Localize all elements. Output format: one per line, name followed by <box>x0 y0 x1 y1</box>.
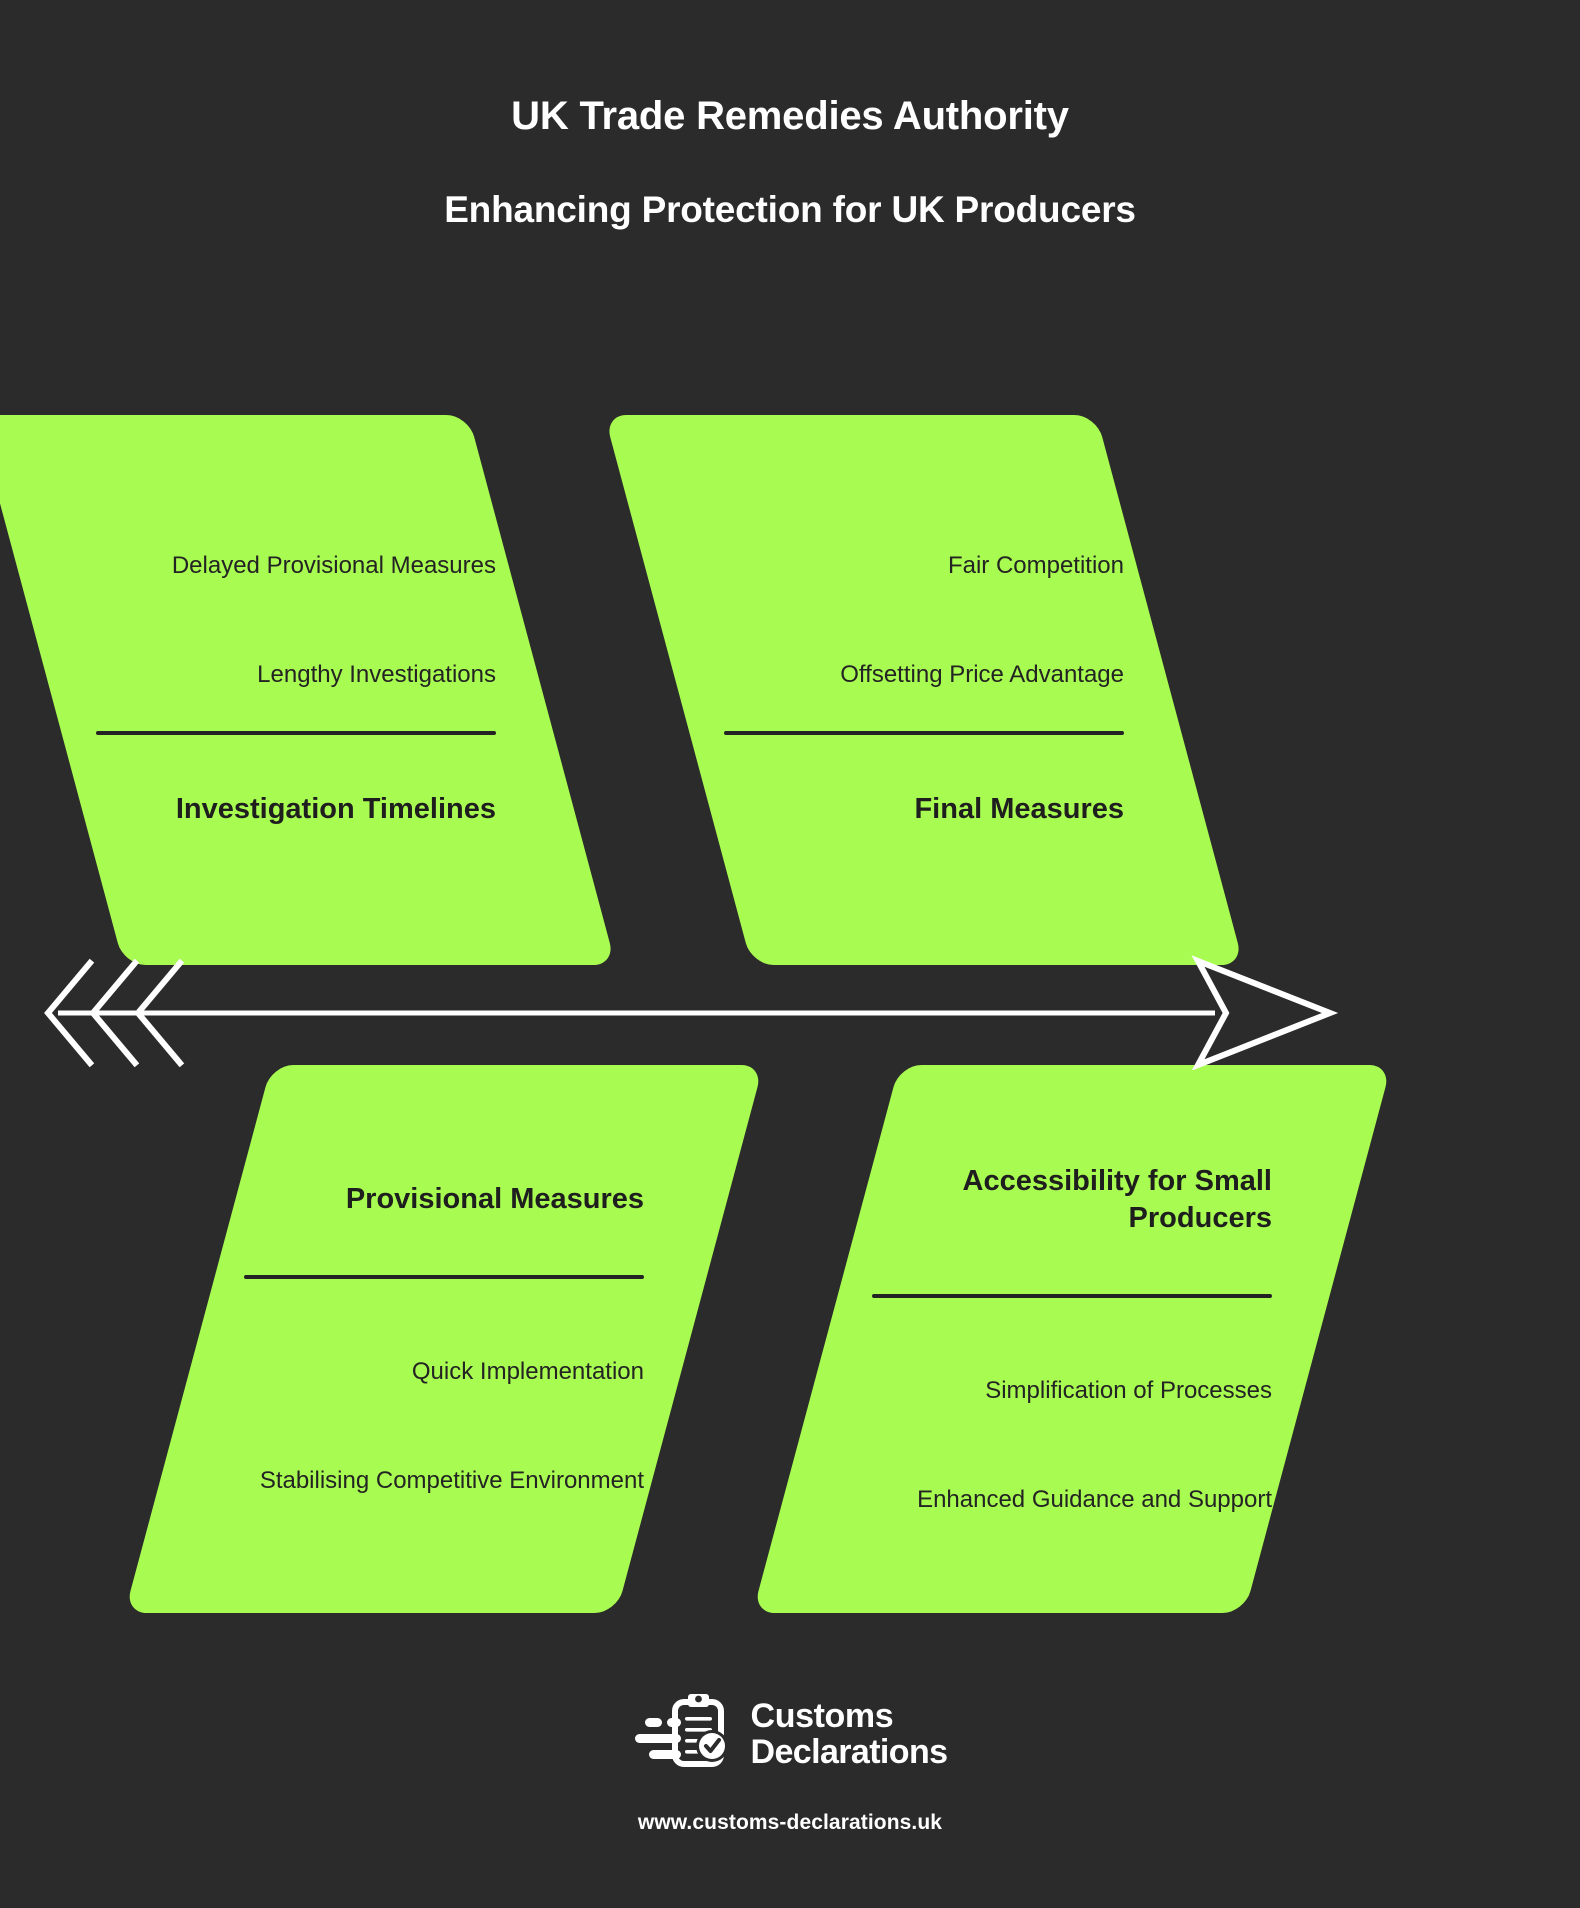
brand-name-line2: Declarations <box>751 1734 948 1770</box>
panel-heading: Provisional Measures <box>244 1181 644 1219</box>
panel-item: Stabilising Competitive Environment <box>244 1466 644 1497</box>
website-url[interactable]: www.customs-declarations.uk <box>0 1783 1580 1835</box>
panel-heading: Accessibility for Small Producers <box>872 1163 1272 1238</box>
page-title: UK Trade Remedies Authority <box>0 92 1580 140</box>
panel-heading: Investigation Timelines <box>96 791 496 829</box>
panel-investigation-timelines[interactable]: Delayed Provisional Measures Lengthy Inv… <box>0 415 616 965</box>
panel-item: Delayed Provisional Measures <box>96 551 496 582</box>
panel-heading: Final Measures <box>724 791 1124 829</box>
panel-final-measures[interactable]: Fair Competition Offsetting Price Advant… <box>604 415 1243 965</box>
page-subtitle: Enhancing Protection for UK Producers <box>0 140 1580 232</box>
panel-accessibility-for-small-producers[interactable]: Accessibility for Small Producers Simpli… <box>753 1065 1392 1613</box>
panel-item: Simplification of Processes <box>872 1376 1272 1407</box>
panel-item: Fair Competition <box>724 551 1124 582</box>
panel-item: Quick Implementation <box>244 1357 644 1388</box>
panel-item: Enhanced Guidance and Support <box>872 1485 1272 1516</box>
page-footer: Customs Declarations www.customs-declara… <box>0 1690 1580 1835</box>
brand-logo[interactable]: Customs Declarations <box>633 1690 948 1778</box>
panel-item: Offsetting Price Advantage <box>724 660 1124 691</box>
clipboard-check-icon <box>633 1690 733 1778</box>
page-header: UK Trade Remedies Authority Enhancing Pr… <box>0 0 1580 232</box>
brand-name-line1: Customs <box>751 1698 948 1734</box>
panel-provisional-measures[interactable]: Provisional Measures Quick Implementatio… <box>125 1065 764 1613</box>
timeline-arrow-icon <box>30 955 1560 1070</box>
panel-item: Lengthy Investigations <box>96 660 496 691</box>
